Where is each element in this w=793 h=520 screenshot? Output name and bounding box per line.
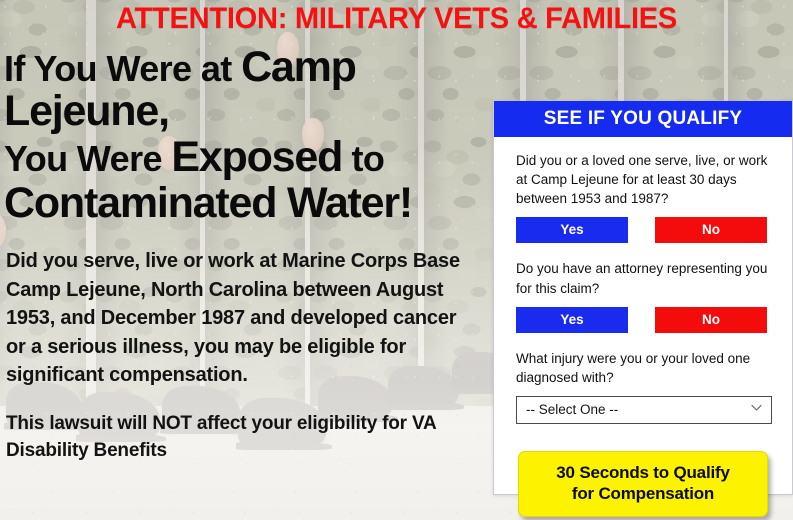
injury-select-wrapper[interactable]: -- Select One -- [516,396,772,424]
headline-line-1-normal: If You Were at [4,48,241,89]
question-1-yes-button[interactable]: Yes [516,217,628,243]
question-2-no-button[interactable]: No [655,307,767,333]
question-2-answer-row: Yes No [516,307,770,333]
headline-line-1: If You Were at Camp Lejeune, [4,46,504,134]
question-1-answer-row: Yes No [516,217,770,243]
headline-line-2-normal: You Were [4,138,171,179]
page-headline: If You Were at Camp Lejeune, You Were Ex… [4,46,504,225]
headline-line-3: Contaminated Water! [4,182,504,226]
hero-body-copy: Did you serve, live or work at Marine Co… [6,247,461,389]
injury-question-text: What injury were you or your loved one d… [516,349,770,387]
headline-line-2-strong: Exposed [171,133,342,181]
headline-line-2: You Were Exposed to [4,136,504,180]
form-body: Did you or a loved one serve, live, or w… [494,137,792,517]
headline-line-2-tail: to [342,138,384,179]
landing-page: ATTENTION: MILITARY VETS & FAMILIES If Y… [0,0,793,520]
form-header-title: SEE IF YOU QUALIFY [494,101,792,137]
va-disability-note: This lawsuit will NOT affect your eligib… [6,411,446,463]
question-1-no-button[interactable]: No [655,217,767,243]
hero-content: If You Were at Camp Lejeune, You Were Ex… [0,0,500,464]
question-2-yes-button[interactable]: Yes [516,307,628,333]
question-2-text: Do you have an attorney representing you… [516,259,770,297]
question-1-text: Did you or a loved one serve, live, or w… [516,151,770,208]
qualify-form-panel: SEE IF YOU QUALIFY Did you or a loved on… [493,101,793,495]
injury-select[interactable]: -- Select One -- [516,396,772,424]
attention-banner: ATTENTION: MILITARY VETS & FAMILIES [12,2,781,36]
cta-line-1: 30 Seconds to Qualify [556,463,729,484]
cta-qualify-button[interactable]: 30 Seconds to Qualify for Compensation [518,451,768,517]
cta-line-2: for Compensation [572,484,714,505]
